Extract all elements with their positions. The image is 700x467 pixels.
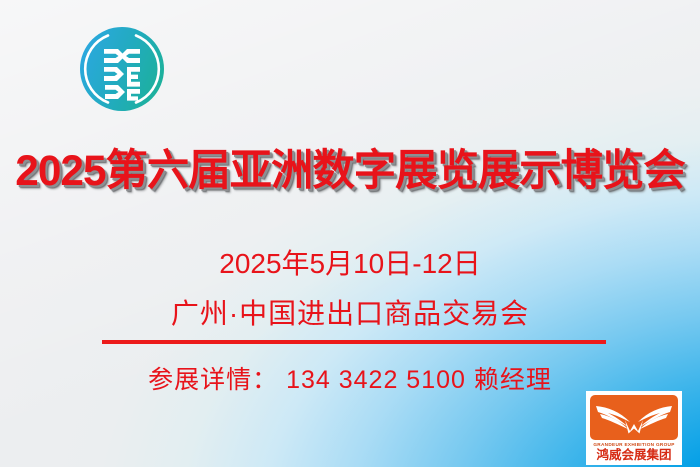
event-date: 2025年5月10日-12日 — [0, 247, 700, 281]
sponsor-english-name: GRANDEUR EXHIBITION GROUP — [589, 442, 679, 448]
poster-headline: 2025第六届亚洲数字展览展示博览会 — [5, 142, 695, 200]
event-venue: 广州·中国进出口商品交易会 — [0, 297, 700, 331]
grandeur-exhibition-group-logo: GRANDEUR EXHIBITION GROUP 鸿威会展集团 — [586, 391, 682, 465]
sponsor-badge — [590, 395, 678, 440]
sponsor-chinese-name: 鸿威会展集团 — [590, 448, 678, 463]
wings-icon — [594, 400, 674, 436]
red-divider-rule — [102, 340, 606, 344]
exhibition-poster: 2025第六届亚洲数字展览展示博览会 2025年5月10日-12日 广州·中国进… — [0, 0, 700, 467]
dse-circular-emblem — [78, 25, 166, 113]
